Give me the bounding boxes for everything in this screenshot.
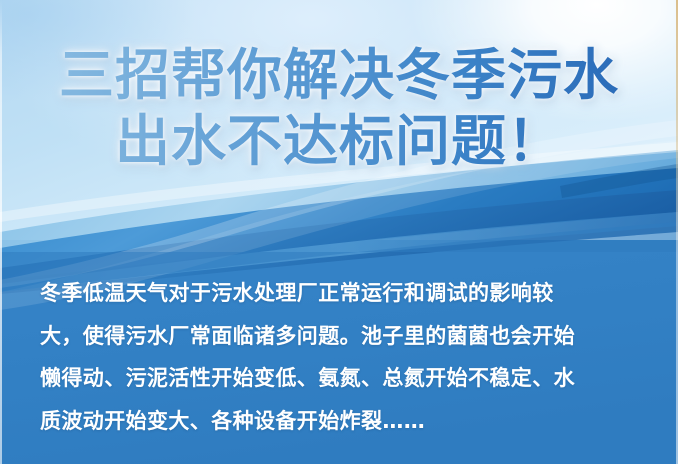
- body-line-4: 质波动开始变大、各种设备开始炸裂……: [40, 400, 640, 443]
- poster-body-text: 冬季低温天气对于污水处理厂正常运行和调试的影响较 大，使得污水厂常面临诸多问题。…: [40, 272, 640, 442]
- title-line-2: 出水不达标问题！: [0, 108, 678, 174]
- body-line-2: 大，使得污水厂常面临诸多问题。池子里的菌菌也会开始: [40, 315, 640, 358]
- body-line-3: 懒得动、污泥活性开始变低、氨氮、总氮开始不稳定、水: [40, 357, 640, 400]
- left-edge-border: [0, 0, 2, 464]
- body-line-1: 冬季低温天气对于污水处理厂正常运行和调试的影响较: [40, 272, 640, 315]
- poster-canvas: 三招帮你解决冬季污水 出水不达标问题！ 冬季低温天气对于污水处理厂正常运行和调试…: [0, 0, 678, 464]
- title-line-1: 三招帮你解决冬季污水: [0, 42, 678, 108]
- poster-title: 三招帮你解决冬季污水 出水不达标问题！: [0, 42, 678, 174]
